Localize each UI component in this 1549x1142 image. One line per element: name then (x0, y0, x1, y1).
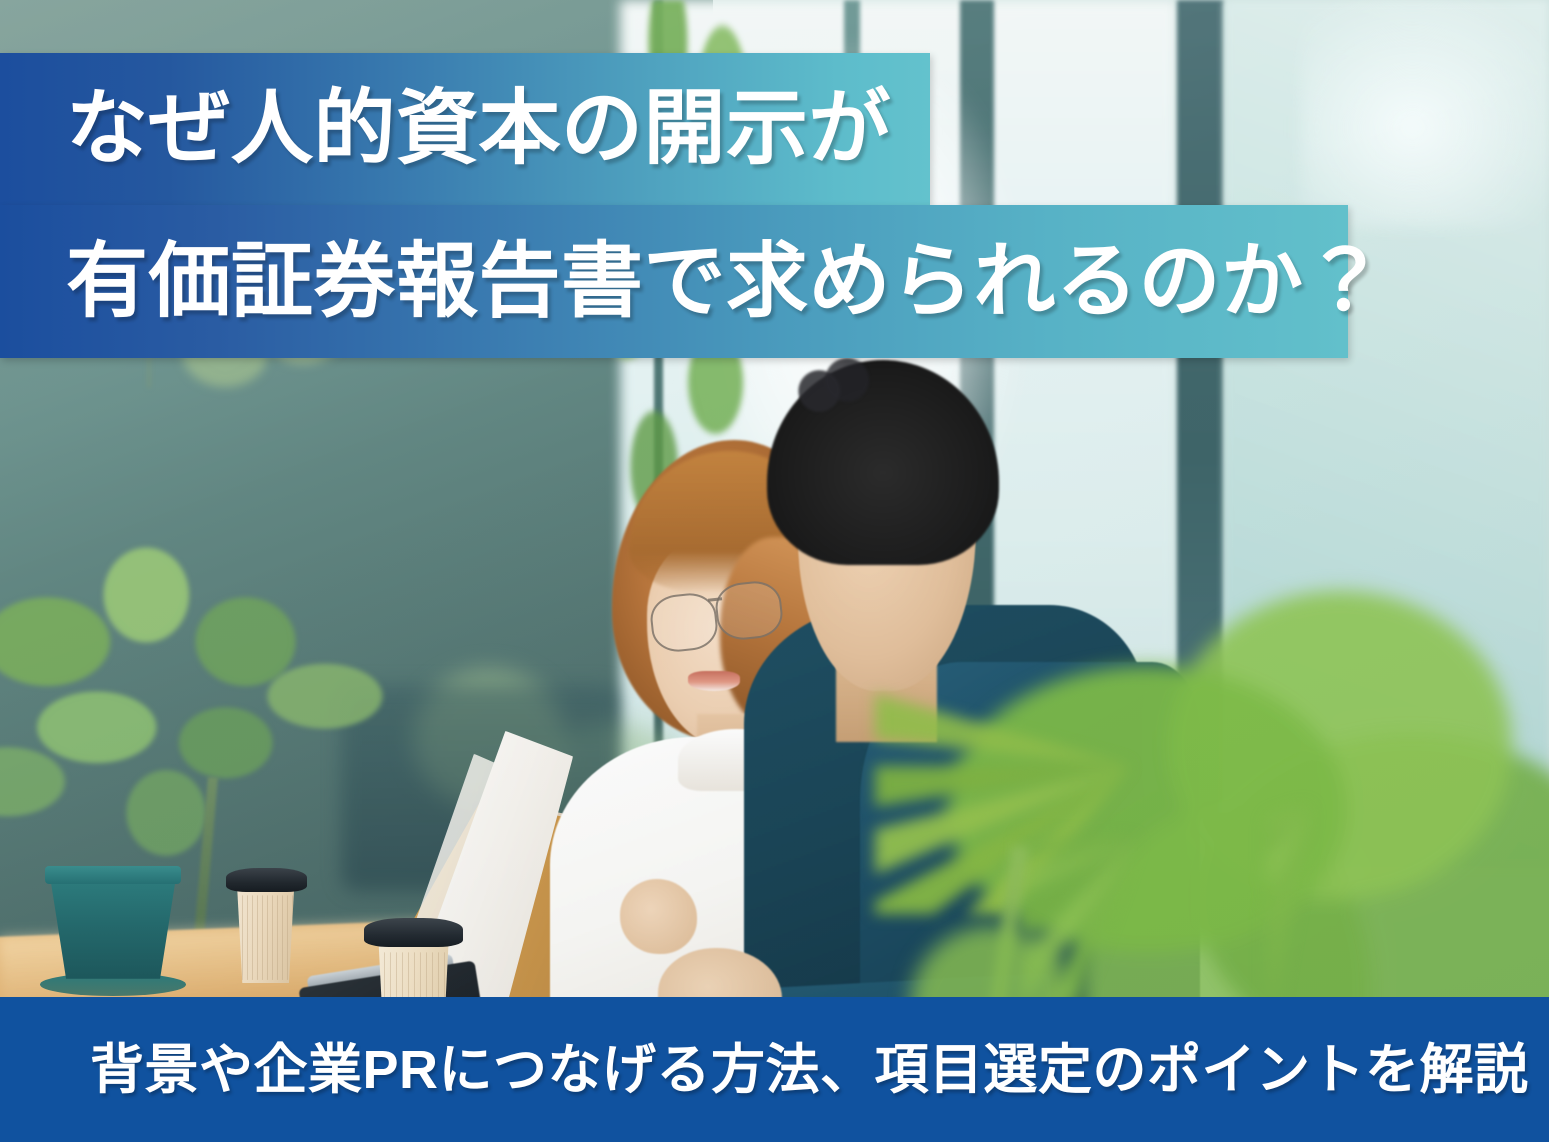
title-band-line-2: 有価証券報告書で求められるのか？ (0, 205, 1348, 358)
subtitle-text: 背景や企業PRにつなげる方法、項目選定のポイントを解説 (90, 1043, 1529, 1097)
hero-banner: なぜ人的資本の開示が 有価証券報告書で求められるのか？ 背景や企業PRにつなげる… (0, 0, 1549, 1142)
title-band-line-1: なぜ人的資本の開示が (0, 53, 930, 205)
title-line-2: 有価証券報告書で求められるのか？ (66, 241, 1386, 323)
subtitle-banner: 背景や企業PRにつなげる方法、項目選定のポイントを解説 (0, 997, 1549, 1142)
title-line-1: なぜ人的資本の開示が (66, 88, 891, 170)
